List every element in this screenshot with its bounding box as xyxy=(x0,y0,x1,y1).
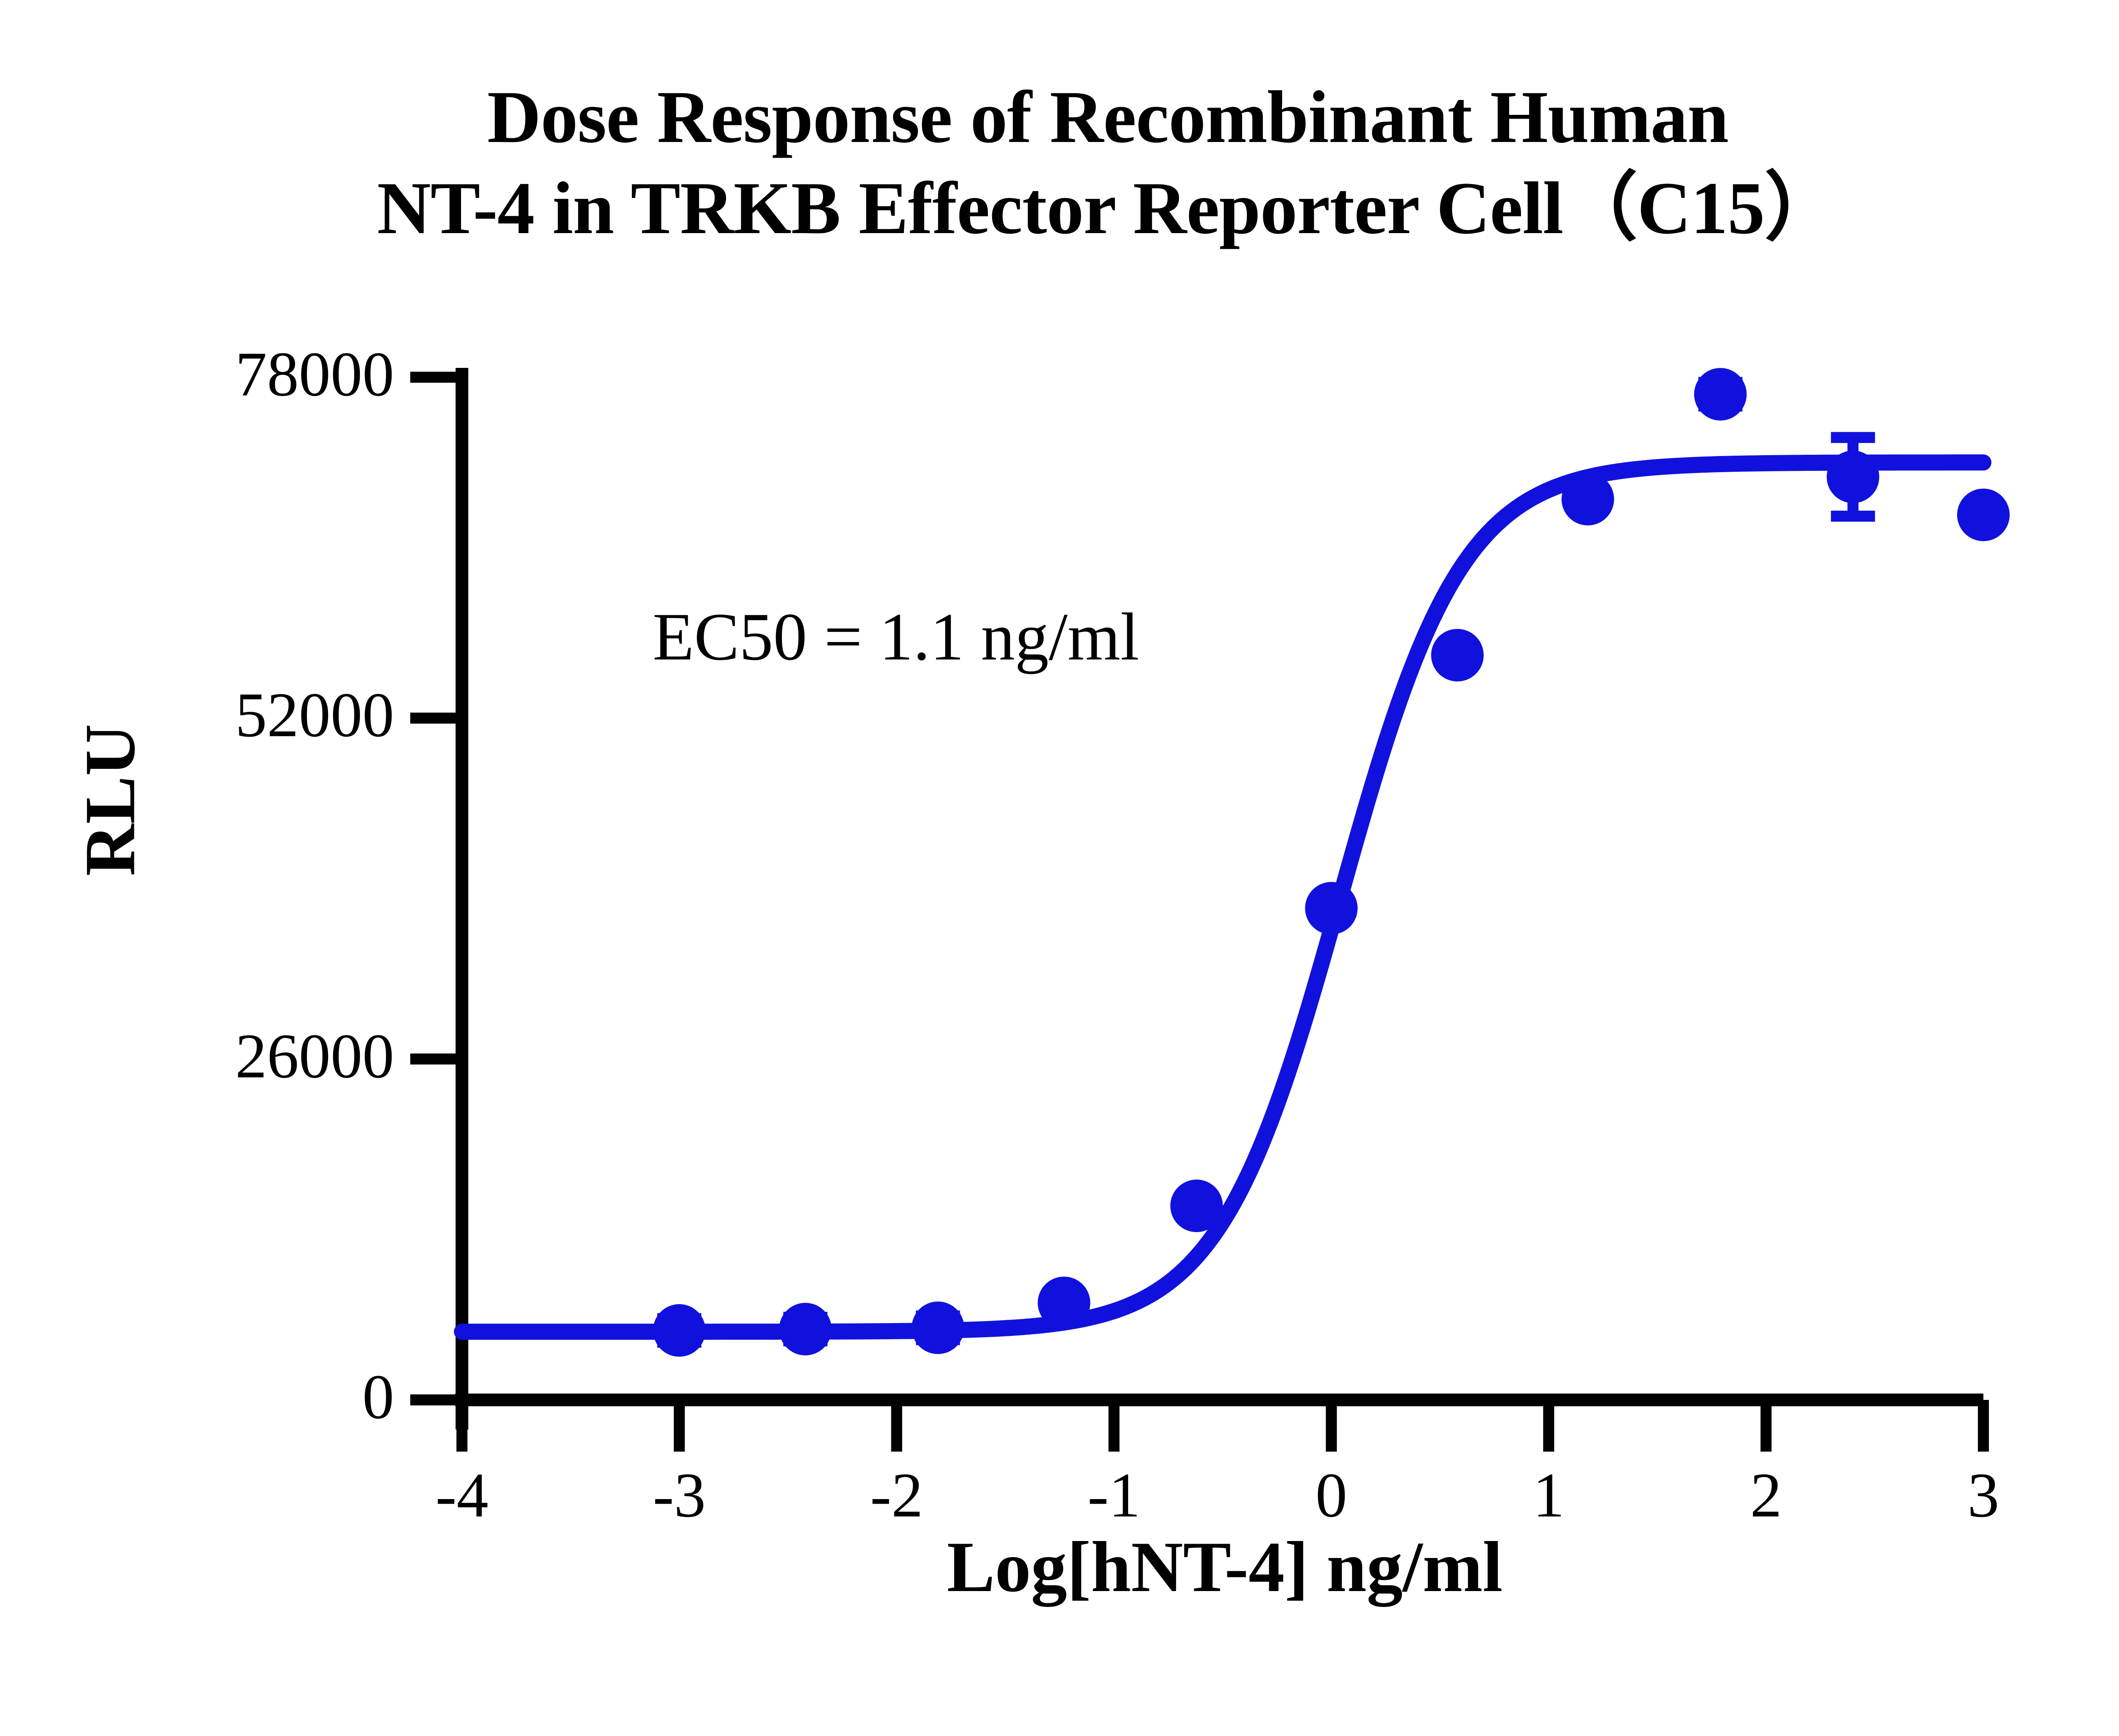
chart-figure: Dose Response of Recombinant Human NT-4 … xyxy=(0,0,2119,1736)
fit-curve xyxy=(462,462,1983,1332)
data-point-3[interactable] xyxy=(1038,1277,1090,1329)
data-point-10[interactable] xyxy=(1957,489,2010,541)
data-point-8[interactable] xyxy=(1694,368,1746,420)
data-point-9[interactable] xyxy=(1827,451,1879,503)
plot-area xyxy=(0,0,2119,1736)
data-point-4[interactable] xyxy=(1170,1180,1223,1232)
data-point-1[interactable] xyxy=(779,1303,831,1355)
data-point-6[interactable] xyxy=(1431,629,1484,682)
data-point-7[interactable] xyxy=(1562,473,1614,526)
data-point-0[interactable] xyxy=(653,1304,706,1357)
data-point-2[interactable] xyxy=(912,1302,964,1354)
data-point-5[interactable] xyxy=(1305,882,1357,935)
